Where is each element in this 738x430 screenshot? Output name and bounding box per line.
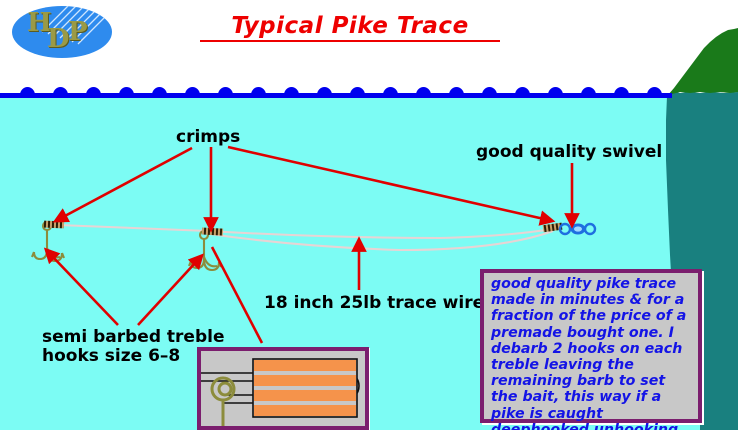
arrow-hooks-to-hook2 <box>138 262 196 325</box>
note-box: good quality pike trace made in minutes … <box>480 269 702 423</box>
label-trace-wire: 18 inch 25lb trace wire <box>264 294 484 313</box>
crimp-2 <box>202 227 223 235</box>
label-hooks-line2: hooks size 6–8 <box>42 346 180 366</box>
crimp-detail-inset <box>197 347 369 430</box>
trace-wire-upper <box>58 225 552 238</box>
crimp-sleeve-body <box>253 359 357 417</box>
note-text: good quality pike trace made in minutes … <box>491 276 691 430</box>
crimp-1 <box>44 221 64 229</box>
trace-wire <box>58 225 553 250</box>
crimp-detail-drawing <box>201 351 365 426</box>
swivel <box>560 224 595 235</box>
arrow-hooks-to-hook1 <box>52 256 118 325</box>
label-good-quality-swivel: good quality swivel <box>476 143 662 162</box>
label-crimps: crimps <box>176 128 240 147</box>
label-hooks-line1: semi barbed treble <box>42 327 224 347</box>
arrow-crimps-to-crimp1 <box>63 148 192 217</box>
pike-trace-diagram: H H D D P P Typical Pike Trace <box>0 0 738 430</box>
